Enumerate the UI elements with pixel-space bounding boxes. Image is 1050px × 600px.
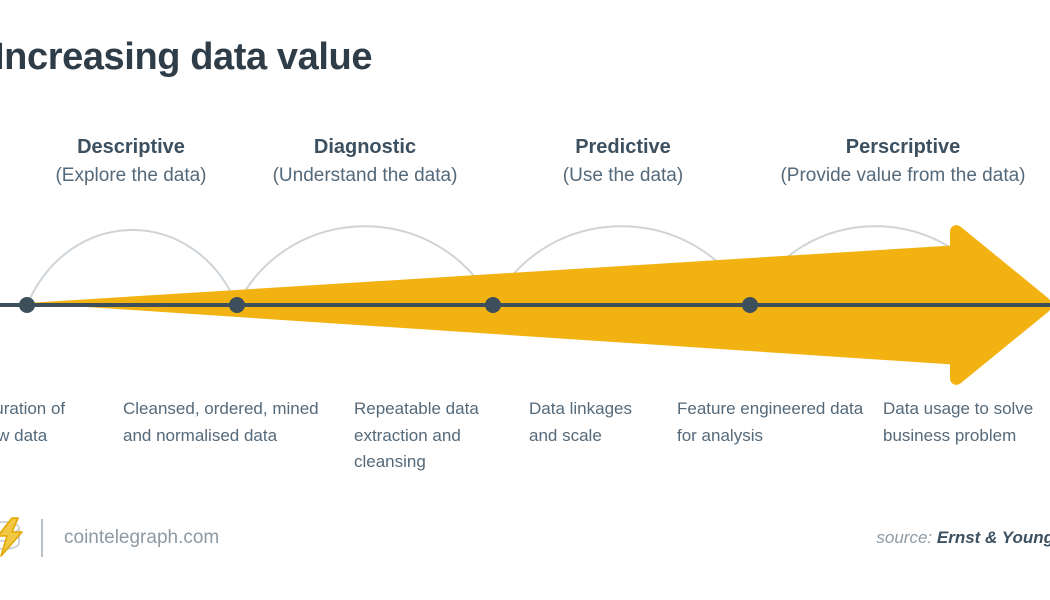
stage-node-4 — [742, 297, 758, 313]
description-cleansed: Cleansed, ordered, mined and normalised … — [123, 396, 329, 449]
stage-node-1 — [19, 297, 35, 313]
stage-subtitle: (Provide value from the data) — [753, 161, 1050, 191]
description-usage: Data usage to solve business problem — [883, 396, 1050, 449]
description-linkages: Data linkages and scale — [529, 396, 659, 449]
stage-label-perscriptive: Perscriptive (Provide value from the dat… — [753, 133, 1050, 191]
footer-site-url[interactable]: cointelegraph.com — [64, 522, 219, 554]
infographic-canvas: Increasing data value Descriptive (Explo… — [0, 0, 1050, 600]
stage-name: Predictive — [473, 133, 773, 161]
stage-node-2 — [229, 297, 245, 313]
description-curation: Curation of raw data — [0, 396, 94, 449]
value-arrow-graphic — [0, 190, 1050, 390]
stage-subtitle: (Use the data) — [473, 161, 773, 191]
source-name: Ernst & Young — [937, 528, 1050, 547]
stage-name: Diagnostic — [215, 133, 515, 161]
source-label: source: — [876, 528, 932, 547]
page-title: Increasing data value — [0, 36, 372, 79]
cointelegraph-logo-icon — [0, 512, 34, 564]
description-feature: Feature engineered data for analysis — [677, 396, 867, 449]
stage-node-3 — [485, 297, 501, 313]
footer-divider — [41, 519, 43, 557]
stage-label-predictive: Predictive (Use the data) — [473, 133, 773, 191]
stage-label-diagnostic: Diagnostic (Understand the data) — [215, 133, 515, 191]
stage-subtitle: (Understand the data) — [215, 161, 515, 191]
footer-source: source: Ernst & Young — [876, 522, 1050, 554]
description-repeatable: Repeatable data extraction and cleansing — [354, 396, 514, 476]
stage-name: Perscriptive — [753, 133, 1050, 161]
